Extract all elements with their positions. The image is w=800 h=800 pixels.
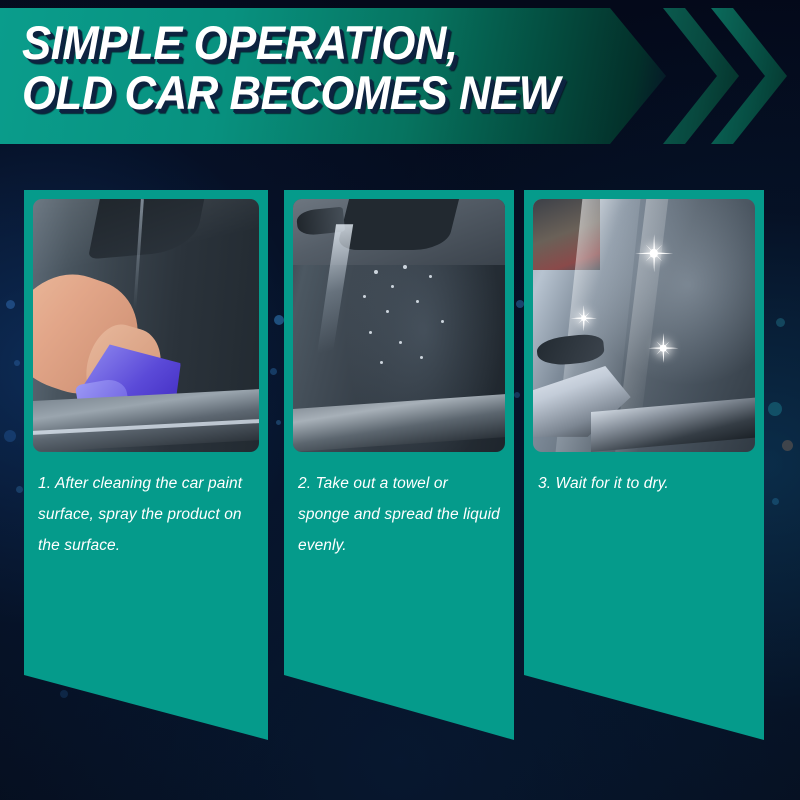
- bokeh-particle: [782, 440, 793, 451]
- step-card-3: 3. Wait for it to dry.: [524, 190, 764, 740]
- bokeh-particle: [270, 368, 277, 375]
- water-droplet: [429, 275, 432, 278]
- water-droplet: [374, 270, 378, 274]
- bokeh-particle: [772, 498, 779, 505]
- water-droplet: [380, 361, 383, 364]
- step-caption-3: 3. Wait for it to dry.: [524, 452, 764, 499]
- bokeh-particle: [768, 402, 782, 416]
- step-image-3: [533, 199, 755, 452]
- water-droplet: [403, 265, 407, 269]
- step-card-1: 1. After cleaning the car paint surface,…: [24, 190, 268, 740]
- bokeh-particle: [16, 486, 23, 493]
- step-image-1: [33, 199, 259, 452]
- bokeh-particle: [4, 430, 16, 442]
- bokeh-particle: [776, 318, 785, 327]
- infographic-page: SIMPLE OPERATION, OLD CAR BECOMES NEW 1.…: [0, 0, 800, 800]
- water-droplet: [399, 341, 402, 344]
- bokeh-particle: [14, 360, 20, 366]
- bokeh-particle: [274, 315, 284, 325]
- bokeh-particle: [516, 300, 524, 308]
- bokeh-particle: [514, 392, 520, 398]
- water-droplet: [391, 285, 394, 288]
- header-banner: SIMPLE OPERATION, OLD CAR BECOMES NEW: [0, 8, 800, 144]
- water-droplet: [369, 331, 372, 334]
- bokeh-particle: [60, 690, 68, 698]
- bokeh-particle: [6, 300, 15, 309]
- step-caption-1: 1. After cleaning the car paint surface,…: [24, 452, 268, 561]
- page-title: SIMPLE OPERATION, OLD CAR BECOMES NEW: [22, 18, 599, 118]
- step-card-2: 2. Take out a towel or sponge and spread…: [284, 190, 514, 740]
- step-image-2: [293, 199, 505, 452]
- bokeh-particle: [276, 420, 281, 425]
- step-caption-2: 2. Take out a towel or sponge and spread…: [284, 452, 514, 561]
